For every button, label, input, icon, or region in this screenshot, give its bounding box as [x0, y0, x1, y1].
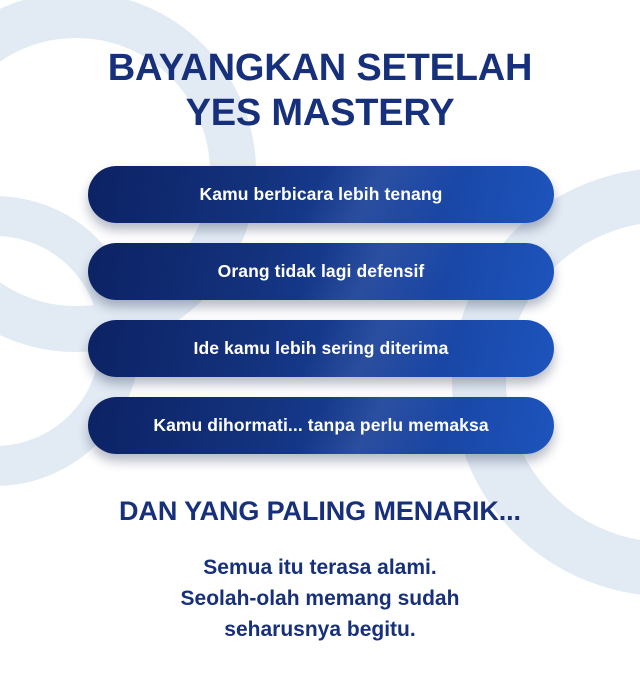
closing-paragraph: Semua itu terasa alami. Seolah-olah mema…	[0, 552, 640, 645]
benefit-pill-3-label: Ide kamu lebih sering diterima	[194, 338, 449, 359]
benefit-pill-1: Kamu berbicara lebih tenang	[88, 166, 554, 223]
benefit-pill-4: Kamu dihormati... tanpa perlu memaksa	[88, 397, 554, 454]
section-subtitle: DAN YANG PALING MENARIK...	[0, 496, 640, 527]
poster-canvas: BAYANGKAN SETELAH YES MASTERY Kamu berbi…	[0, 0, 640, 681]
benefit-pill-3: Ide kamu lebih sering diterima	[88, 320, 554, 377]
benefit-pill-2: Orang tidak lagi defensif	[88, 243, 554, 300]
benefit-pill-list: Kamu berbicara lebih tenang Orang tidak …	[88, 166, 554, 474]
page-title: BAYANGKAN SETELAH YES MASTERY	[0, 46, 640, 136]
benefit-pill-4-label: Kamu dihormati... tanpa perlu memaksa	[153, 415, 488, 436]
benefit-pill-1-label: Kamu berbicara lebih tenang	[200, 184, 443, 205]
benefit-pill-2-label: Orang tidak lagi defensif	[218, 261, 425, 282]
